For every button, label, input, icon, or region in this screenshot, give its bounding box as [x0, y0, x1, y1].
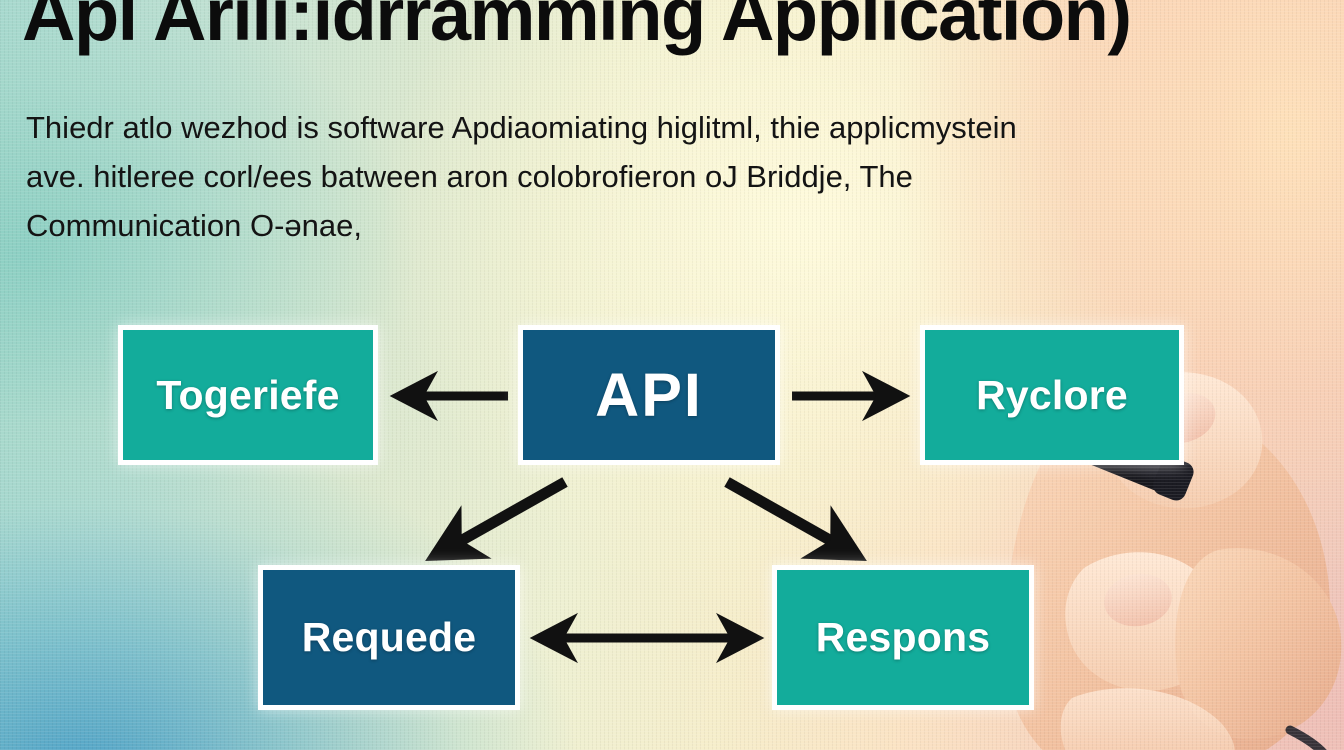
diagram-node-response-label: Respons	[816, 614, 991, 661]
connector-api-to-response	[727, 482, 858, 556]
diagram-node-request[interactable]: Requede	[258, 565, 520, 710]
diagram-node-api-label: API	[595, 360, 703, 430]
slide-canvas: Apl Arili:idrramming Application) Thiedr…	[0, 0, 1344, 750]
diagram-node-consumer-label: Togeriefe	[156, 372, 339, 419]
diagram-node-provider-label: Ryclore	[976, 372, 1128, 419]
diagram-node-consumer[interactable]: Togeriefe	[118, 325, 378, 465]
diagram-node-provider[interactable]: Ryclore	[920, 325, 1184, 465]
diagram-node-response[interactable]: Respons	[772, 565, 1034, 710]
connector-api-to-request	[434, 482, 565, 556]
diagram-node-request-label: Requede	[302, 614, 477, 661]
diagram-node-api[interactable]: API	[518, 325, 780, 465]
api-flow-diagram: Togeriefe API Ryclore Requede Respons	[0, 0, 1344, 750]
